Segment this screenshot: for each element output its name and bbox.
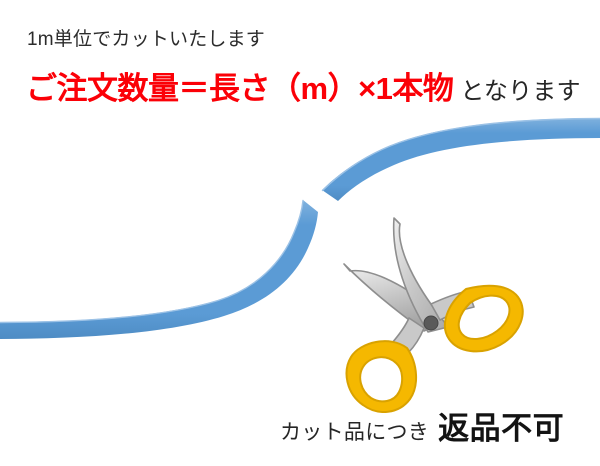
cable-segment-left: [0, 200, 318, 339]
cable-left-highlight: [0, 201, 303, 323]
headline-tail-text: となります: [460, 78, 580, 105]
footnote: カット品につき返品不可: [280, 413, 564, 444]
scissors-icon: [344, 218, 523, 412]
scissors-handle-lower: [347, 341, 417, 412]
poster-canvas: 1m単位でカットいたします ご注文数量＝長さ（m）×1本物となります カット品に…: [0, 0, 600, 466]
footnote-lead-text: カット品につき: [280, 421, 429, 444]
headline-subtext: 1m単位でカットいたします: [27, 30, 265, 49]
headline-accent-text: ご注文数量＝長さ（m）×1本物: [26, 71, 453, 106]
cable-segment-right: [322, 118, 600, 201]
cut-cable-illustration: [0, 0, 600, 466]
footnote-strong-text: 返品不可: [438, 411, 564, 446]
scissors-pivot-screw: [424, 316, 438, 330]
headline-main: ご注文数量＝長さ（m）×1本物となります: [26, 73, 581, 104]
